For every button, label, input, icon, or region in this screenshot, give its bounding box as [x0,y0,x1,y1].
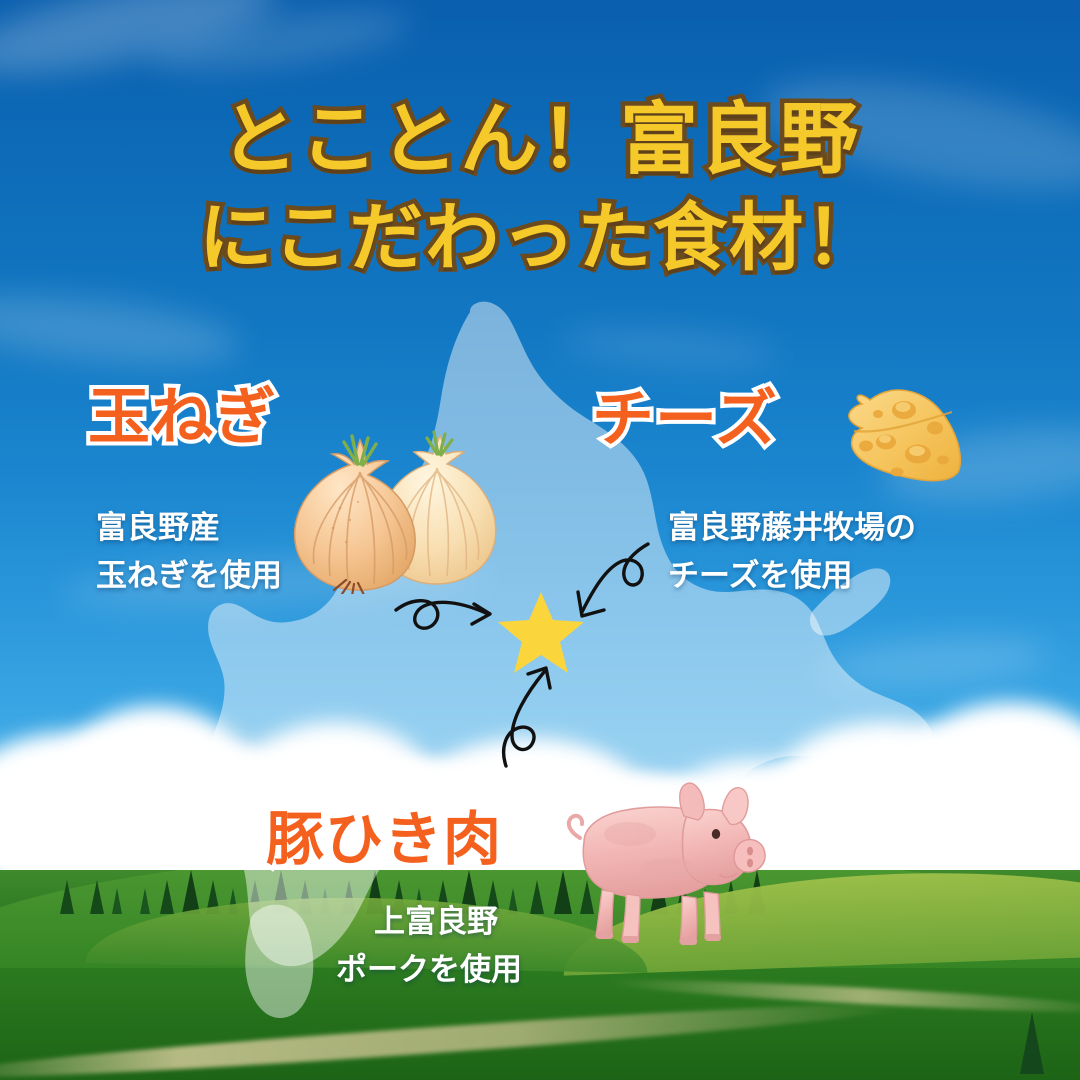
ingredient-caption-cheese: 富良野藤井牧場の チーズを使用 [668,504,916,600]
ingredient-caption-onion: 富良野産 玉ねぎを使用 [96,504,282,600]
pork-caption-line-1: 上富良野 [374,904,498,939]
pork-caption-line-2: ポークを使用 [336,946,522,994]
onion-illustration [288,424,504,594]
cheese-caption-line-2: チーズを使用 [668,558,852,593]
curly-arrow-up-icon [490,660,572,770]
pig-illustration [560,772,770,950]
ingredient-heading-cheese: チーズ [592,368,778,458]
ingredient-heading-onion: 玉ねぎ [88,366,277,456]
onion-caption-line-2: 玉ねぎを使用 [96,558,282,593]
poster-canvas: とことん！富良野 にこだわった食材！ 玉ねぎ 富良野産 玉ねぎを使用 [0,0,1080,1080]
ingredient-heading-pork: 豚ひき肉 [266,792,502,876]
curly-arrow-right-icon [392,586,532,656]
cheese-wedge-illustration [840,384,970,490]
ingredient-caption-pork: 上富良野 ポークを使用 [350,898,522,994]
cheese-caption-line-1: 富良野藤井牧場の [668,510,916,545]
onion-caption-line-1: 富良野産 [96,510,220,545]
curly-arrow-left-icon [570,540,666,640]
